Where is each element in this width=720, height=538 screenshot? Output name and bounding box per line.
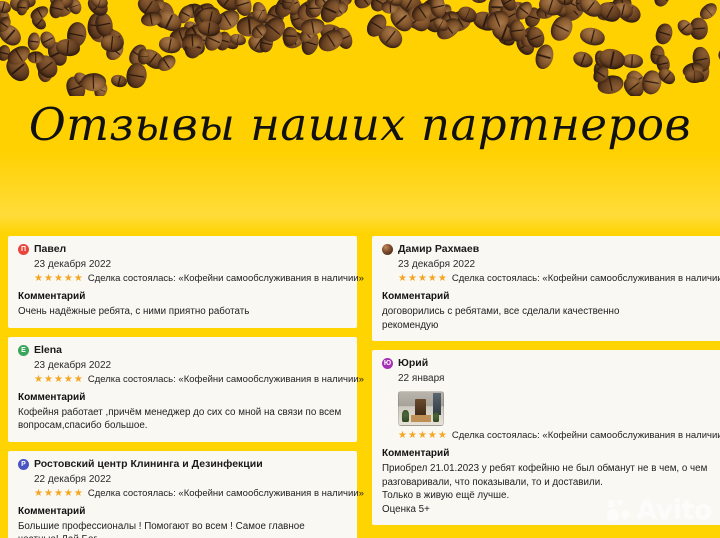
coffee-bean-icon bbox=[16, 0, 28, 16]
deal-status-text: Сделка состоялась: «Кофейни самообслужив… bbox=[88, 273, 364, 285]
star-icon: ★ bbox=[438, 273, 447, 285]
left-column: ППавел23 декабря 2022★★★★★Сделка состоял… bbox=[8, 236, 357, 526]
star-icon: ★ bbox=[64, 374, 73, 386]
coffee-bean-icon bbox=[654, 21, 675, 45]
avatar[interactable]: Р bbox=[18, 459, 29, 470]
coffee-bean-icon bbox=[651, 0, 672, 9]
star-icon: ★ bbox=[64, 488, 73, 500]
star-icon: ★ bbox=[418, 273, 427, 285]
coffee-bean-icon bbox=[125, 61, 148, 89]
star-icon: ★ bbox=[34, 488, 43, 500]
comment-line: Очень надёжные ребята, с ними приятно ра… bbox=[18, 305, 347, 319]
review-date: 22 января bbox=[398, 371, 711, 386]
review-date: 23 декабря 2022 bbox=[398, 257, 711, 272]
review-card[interactable]: EElena23 декабря 2022★★★★★Сделка состоял… bbox=[8, 337, 357, 442]
review-date: 23 декабря 2022 bbox=[34, 257, 347, 272]
comment-label: Комментарий bbox=[382, 447, 711, 461]
star-icon: ★ bbox=[438, 430, 447, 442]
coffee-bean-icon bbox=[100, 34, 123, 53]
review-date: 23 декабря 2022 bbox=[34, 358, 347, 373]
star-rating: ★★★★★ bbox=[34, 374, 83, 386]
star-rating: ★★★★★ bbox=[34, 488, 83, 500]
star-icon: ★ bbox=[34, 273, 43, 285]
review-header: ЮЮрий bbox=[382, 357, 711, 370]
rating-row: ★★★★★Сделка состоялась: «Кофейни самообс… bbox=[398, 430, 711, 442]
star-icon: ★ bbox=[408, 430, 417, 442]
deal-status-text: Сделка состоялась: «Кофейни самообслужив… bbox=[452, 430, 720, 442]
star-icon: ★ bbox=[44, 488, 53, 500]
coffee-bean-icon bbox=[571, 49, 595, 70]
comment-line: разговаривали, что показывали, то и дост… bbox=[382, 476, 711, 490]
photo-plant-left bbox=[402, 410, 409, 422]
coffee-bean-icon bbox=[578, 25, 606, 47]
star-icon: ★ bbox=[74, 488, 83, 500]
review-author-name: Юрий bbox=[398, 357, 428, 370]
rating-row: ★★★★★Сделка состоялась: «Кофейни самообс… bbox=[34, 273, 347, 285]
comment-label: Комментарий bbox=[18, 290, 347, 304]
avatar[interactable]: П bbox=[18, 244, 29, 255]
review-header: РРостовский центр Клининга и Дезинфекции bbox=[18, 458, 347, 471]
comment-label: Комментарий bbox=[18, 505, 347, 519]
coffee-bean-icon bbox=[471, 0, 489, 4]
star-rating: ★★★★★ bbox=[398, 430, 447, 442]
comment-line: Приобрел 21.01.2023 у ребят кофейню не б… bbox=[382, 462, 711, 476]
comment-body: договорились с ребятами, все сделали кач… bbox=[382, 305, 711, 332]
right-column: Дамир Рахмаев23 декабря 2022★★★★★Сделка … bbox=[372, 236, 720, 526]
review-header: ППавел bbox=[18, 243, 347, 256]
coffee-bean-icon bbox=[716, 42, 720, 66]
star-icon: ★ bbox=[408, 273, 417, 285]
photo-coffee-machine bbox=[415, 399, 426, 416]
review-page: Отзывы наших партнеров ППавел23 декабря … bbox=[0, 0, 720, 538]
coffee-bean-icon bbox=[27, 51, 43, 64]
deal-status-text: Сделка состоялась: «Кофейни самообслужив… bbox=[88, 488, 364, 500]
header-banner: Отзывы наших партнеров bbox=[0, 0, 720, 232]
comment-body: Большие профессионалы ! Помогают во всем… bbox=[18, 520, 347, 538]
star-icon: ★ bbox=[74, 273, 83, 285]
star-icon: ★ bbox=[398, 273, 407, 285]
photo-plant-right bbox=[433, 412, 439, 422]
rating-row: ★★★★★Сделка состоялась: «Кофейни самообс… bbox=[398, 273, 711, 285]
coffee-bean-icon bbox=[27, 31, 41, 50]
deal-status-text: Сделка состоялась: «Кофейни самообслужив… bbox=[88, 374, 364, 386]
review-author-name: Elena bbox=[34, 344, 62, 357]
page-title: Отзывы наших партнеров bbox=[0, 96, 720, 154]
comment-line: Большие профессионалы ! Помогают во всем… bbox=[18, 520, 347, 538]
comment-line: договорились с ребятами, все сделали кач… bbox=[382, 305, 711, 319]
avatar[interactable] bbox=[382, 244, 393, 255]
star-icon: ★ bbox=[34, 374, 43, 386]
review-header: Дамир Рахмаев bbox=[382, 243, 711, 256]
rating-row: ★★★★★Сделка состоялась: «Кофейни самообс… bbox=[34, 488, 347, 500]
star-icon: ★ bbox=[418, 430, 427, 442]
star-icon: ★ bbox=[54, 273, 63, 285]
coffee-bean-icon bbox=[139, 48, 150, 64]
star-icon: ★ bbox=[54, 488, 63, 500]
comment-label: Комментарий bbox=[382, 290, 711, 304]
comment-body: Кофейня работает ,причём менеджер до сих… bbox=[18, 406, 347, 433]
comment-line: рекомендую bbox=[382, 319, 711, 333]
comment-body: Приобрел 21.01.2023 у ребят кофейню не б… bbox=[382, 462, 711, 516]
star-icon: ★ bbox=[428, 430, 437, 442]
coffee-beans-decoration bbox=[0, 0, 720, 96]
comment-body: Очень надёжные ребята, с ними приятно ра… bbox=[18, 305, 347, 319]
review-date: 22 декабря 2022 bbox=[34, 472, 347, 487]
reviews-container: ППавел23 декабря 2022★★★★★Сделка состоял… bbox=[0, 236, 720, 526]
review-author-name: Ростовский центр Клининга и Дезинфекции bbox=[34, 458, 263, 471]
star-rating: ★★★★★ bbox=[398, 273, 447, 285]
comment-line: вопросам,спасибо большое. bbox=[18, 419, 347, 433]
review-card[interactable]: ППавел23 декабря 2022★★★★★Сделка состоял… bbox=[8, 236, 357, 328]
star-icon: ★ bbox=[398, 430, 407, 442]
rating-row: ★★★★★Сделка состоялась: «Кофейни самообс… bbox=[34, 374, 347, 386]
star-icon: ★ bbox=[428, 273, 437, 285]
review-author-name: Дамир Рахмаев bbox=[398, 243, 479, 256]
avatar[interactable]: E bbox=[18, 345, 29, 356]
comment-line: Оценка 5+ bbox=[382, 503, 711, 517]
review-card[interactable]: ЮЮрий22 января★★★★★Сделка состоялась: «К… bbox=[372, 350, 720, 525]
review-card[interactable]: Дамир Рахмаев23 декабря 2022★★★★★Сделка … bbox=[372, 236, 720, 341]
deal-status-text: Сделка состоялась: «Кофейни самообслужив… bbox=[452, 273, 720, 285]
coffee-bean-icon bbox=[80, 73, 106, 92]
star-rating: ★★★★★ bbox=[34, 273, 83, 285]
photo-counter bbox=[411, 415, 430, 422]
coffee-machine-photo[interactable] bbox=[398, 391, 444, 426]
comment-line: Кофейня работает ,причём менеджер до сих… bbox=[18, 406, 347, 420]
comment-line: Только в живую ещё лучше. bbox=[382, 489, 711, 503]
star-icon: ★ bbox=[44, 374, 53, 386]
coffee-bean-icon bbox=[109, 73, 128, 89]
star-icon: ★ bbox=[44, 273, 53, 285]
review-header: EElena bbox=[18, 344, 347, 357]
avatar[interactable]: Ю bbox=[382, 358, 393, 369]
comment-label: Комментарий bbox=[18, 391, 347, 405]
review-author-name: Павел bbox=[34, 243, 66, 256]
star-icon: ★ bbox=[74, 374, 83, 386]
star-icon: ★ bbox=[54, 374, 63, 386]
review-card[interactable]: РРостовский центр Клининга и Дезинфекции… bbox=[8, 451, 357, 538]
star-icon: ★ bbox=[64, 273, 73, 285]
